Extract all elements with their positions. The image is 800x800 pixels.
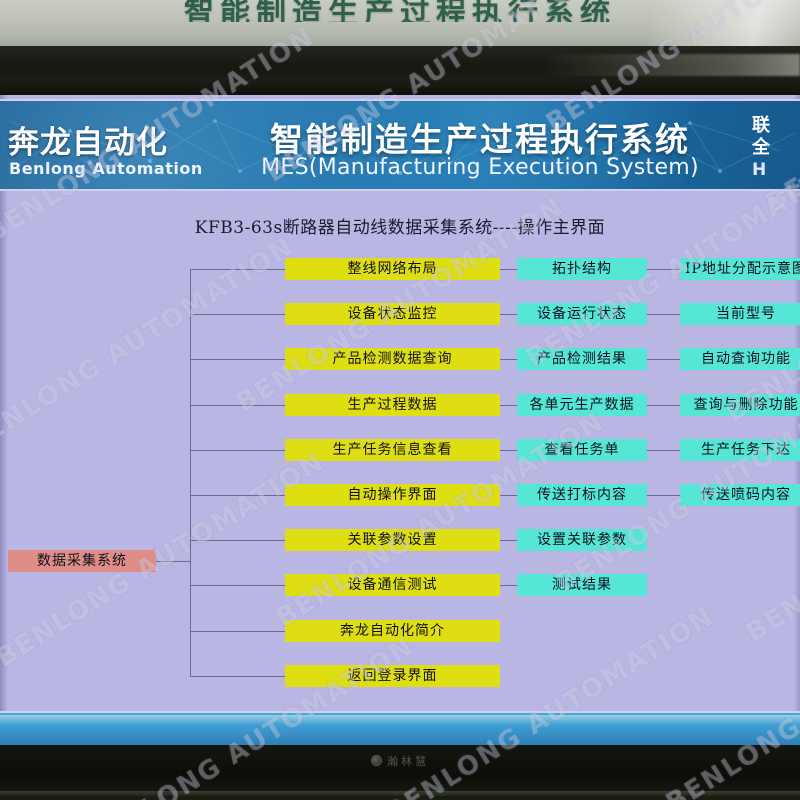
root-node-data-acquisition-system[interactable]: 数据采集系统 bbox=[8, 550, 156, 572]
connector-l1-to-l2-2 bbox=[500, 359, 517, 360]
connector-spine-to-l1-5 bbox=[190, 495, 285, 496]
monitor-brand-label: 瀚林慧 bbox=[0, 753, 800, 769]
menu-item-l1-9[interactable]: 返回登录界面 bbox=[285, 665, 500, 687]
connector-l1-to-l2-5 bbox=[500, 495, 517, 496]
connector-l2-to-l3-5 bbox=[647, 495, 680, 496]
root-to-spine-connector bbox=[156, 561, 190, 562]
menu-item-l3-3[interactable]: 查询与删除功能 bbox=[680, 394, 800, 416]
wall-light-reflection bbox=[650, 0, 800, 46]
screen-bottom-strip bbox=[0, 711, 800, 745]
monitor-brand-text: 瀚林慧 bbox=[387, 755, 429, 768]
connector-l1-to-l2-3 bbox=[500, 405, 517, 406]
monitor-bottom-bezel: 瀚林慧 bbox=[0, 745, 800, 800]
menu-item-l2-7[interactable]: 测试结果 bbox=[517, 574, 647, 596]
bezel-highlight bbox=[540, 54, 800, 76]
menu-item-l1-3[interactable]: 生产过程数据 bbox=[285, 394, 500, 416]
connector-spine-to-l1-6 bbox=[190, 540, 285, 541]
screenshot-root: 智能制造生产过程执行系统 bbox=[0, 0, 800, 800]
menu-item-l3-1[interactable]: 当前型号 bbox=[680, 303, 800, 325]
connector-spine-to-l1-3 bbox=[190, 405, 285, 406]
menu-item-l1-7[interactable]: 设备通信测试 bbox=[285, 574, 500, 596]
menu-tree-diagram: 数据采集系统整线网络布局拓扑结构IP地址分配示意图设备状态监控设备运行状态当前型… bbox=[0, 95, 800, 745]
menu-item-l2-5[interactable]: 传送打标内容 bbox=[517, 484, 647, 506]
menu-item-l2-3[interactable]: 各单元生产数据 bbox=[517, 394, 647, 416]
menu-item-l2-6[interactable]: 设置关联参数 bbox=[517, 529, 647, 551]
connector-spine-to-l1-0 bbox=[190, 269, 285, 270]
connector-spine-to-l1-8 bbox=[190, 631, 285, 632]
bezel-bottom-lip bbox=[0, 791, 800, 796]
menu-item-l2-2[interactable]: 产品检测结果 bbox=[517, 348, 647, 370]
menu-item-l1-2[interactable]: 产品检测数据查询 bbox=[285, 348, 500, 370]
menu-item-l1-8[interactable]: 奔龙自动化简介 bbox=[285, 620, 500, 642]
connector-l1-to-l2-1 bbox=[500, 314, 517, 315]
monitor-screen: 奔龙自动化 Benlong Automation 智能制造生产过程执行系统 ME… bbox=[0, 95, 800, 745]
menu-item-l3-4[interactable]: 生产任务下达 bbox=[680, 439, 800, 461]
connector-l2-to-l3-3 bbox=[647, 405, 680, 406]
connector-l2-to-l3-1 bbox=[647, 314, 680, 315]
menu-item-l1-6[interactable]: 关联参数设置 bbox=[285, 529, 500, 551]
connector-spine-to-l1-1 bbox=[190, 314, 285, 315]
connector-spine-to-l1-9 bbox=[190, 676, 285, 677]
menu-item-l1-5[interactable]: 自动操作界面 bbox=[285, 484, 500, 506]
connector-spine-to-l1-4 bbox=[190, 450, 285, 451]
connector-l1-to-l2-0 bbox=[500, 269, 517, 270]
menu-item-l2-0[interactable]: 拓扑结构 bbox=[517, 258, 647, 280]
connector-l2-to-l3-4 bbox=[647, 450, 680, 451]
connector-spine-to-l1-2 bbox=[190, 359, 285, 360]
menu-item-l3-0[interactable]: IP地址分配示意图 bbox=[680, 258, 800, 280]
connector-l2-to-l3-0 bbox=[647, 269, 680, 270]
menu-item-l1-1[interactable]: 设备状态监控 bbox=[285, 303, 500, 325]
circle-logo-icon bbox=[371, 755, 382, 766]
menu-item-l3-2[interactable]: 自动查询功能 bbox=[680, 348, 800, 370]
connector-l1-to-l2-6 bbox=[500, 540, 517, 541]
menu-item-l1-0[interactable]: 整线网络布局 bbox=[285, 258, 500, 280]
menu-item-l2-1[interactable]: 设备运行状态 bbox=[517, 303, 647, 325]
monitor-top-bezel bbox=[0, 46, 800, 95]
connector-l1-to-l2-7 bbox=[500, 585, 517, 586]
strip-glow bbox=[0, 715, 800, 725]
menu-item-l3-5[interactable]: 传送喷码内容 bbox=[680, 484, 800, 506]
connector-l1-to-l2-4 bbox=[500, 450, 517, 451]
connector-spine-to-l1-7 bbox=[190, 585, 285, 586]
tree-spine-connector bbox=[190, 269, 191, 676]
connector-l2-to-l3-2 bbox=[647, 359, 680, 360]
menu-item-l2-4[interactable]: 查看任务单 bbox=[517, 439, 647, 461]
menu-item-l1-4[interactable]: 生产任务信息查看 bbox=[285, 439, 500, 461]
wall-background: 智能制造生产过程执行系统 bbox=[0, 0, 800, 46]
